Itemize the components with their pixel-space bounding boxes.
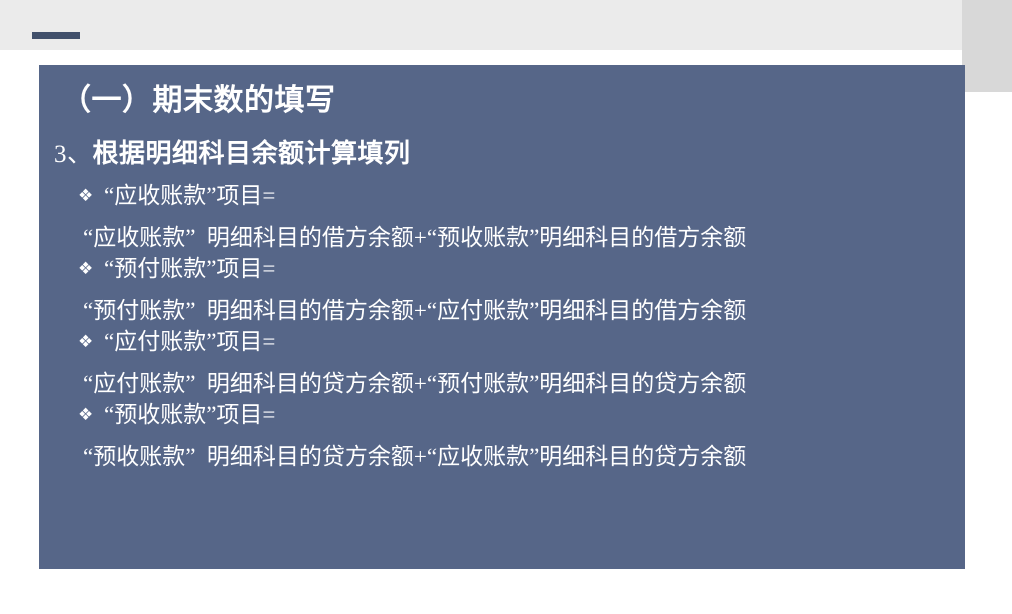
bullet-row: ❖ “应收账款”项目= <box>39 182 965 210</box>
bullet-row: ❖ “应付账款”项目= <box>39 328 965 356</box>
bullet-label: “预付账款”项目= <box>104 255 275 283</box>
formula-text: “预收账款” 明细科目的贷方余额+“应收账款”明细科目的贷方余额 <box>39 443 965 471</box>
list-item: ❖ “应付账款”项目= “应付账款” 明细科目的贷方余额+“预付账款”明细科目的… <box>39 328 965 398</box>
bullet-label: “预收账款”项目= <box>104 401 275 429</box>
diamond-bullet-icon: ❖ <box>78 401 104 429</box>
formula-text: “应收账款” 明细科目的借方余额+“预收账款”明细科目的借方余额 <box>39 224 965 252</box>
slide-content-panel: （一）期末数的填写 3、根据明细科目余额计算填列 ❖ “应收账款”项目= “应收… <box>39 65 965 569</box>
formula-text: “应付账款” 明细科目的贷方余额+“预付账款”明细科目的贷方余额 <box>39 370 965 398</box>
list-item: ❖ “应收账款”项目= “应收账款” 明细科目的借方余额+“预收账款”明细科目的… <box>39 182 965 252</box>
bullet-label: “应收账款”项目= <box>104 182 275 210</box>
formula-list: ❖ “应收账款”项目= “应收账款” 明细科目的借方余额+“预收账款”明细科目的… <box>39 170 965 471</box>
formula-text: “预付账款” 明细科目的借方余额+“应付账款”明细科目的借方余额 <box>39 297 965 325</box>
corner-dash-decoration <box>32 32 80 39</box>
bullet-row: ❖ “预付账款”项目= <box>39 255 965 283</box>
section-number: 3、 <box>54 141 93 168</box>
top-decoration-band <box>0 0 962 50</box>
diamond-bullet-icon: ❖ <box>78 255 104 283</box>
section-heading: 3、根据明细科目余额计算填列 <box>39 116 965 170</box>
right-decoration-band <box>962 0 1012 92</box>
bullet-row: ❖ “预收账款”项目= <box>39 401 965 429</box>
diamond-bullet-icon: ❖ <box>78 328 104 356</box>
section-heading-label: 根据明细科目余额计算填列 <box>93 139 411 169</box>
page-title: （一）期末数的填写 <box>39 65 965 116</box>
diamond-bullet-icon: ❖ <box>78 182 104 210</box>
list-item: ❖ “预付账款”项目= “预付账款” 明细科目的借方余额+“应付账款”明细科目的… <box>39 255 965 325</box>
bullet-label: “应付账款”项目= <box>104 328 275 356</box>
list-item: ❖ “预收账款”项目= “预收账款” 明细科目的贷方余额+“应收账款”明细科目的… <box>39 401 965 471</box>
